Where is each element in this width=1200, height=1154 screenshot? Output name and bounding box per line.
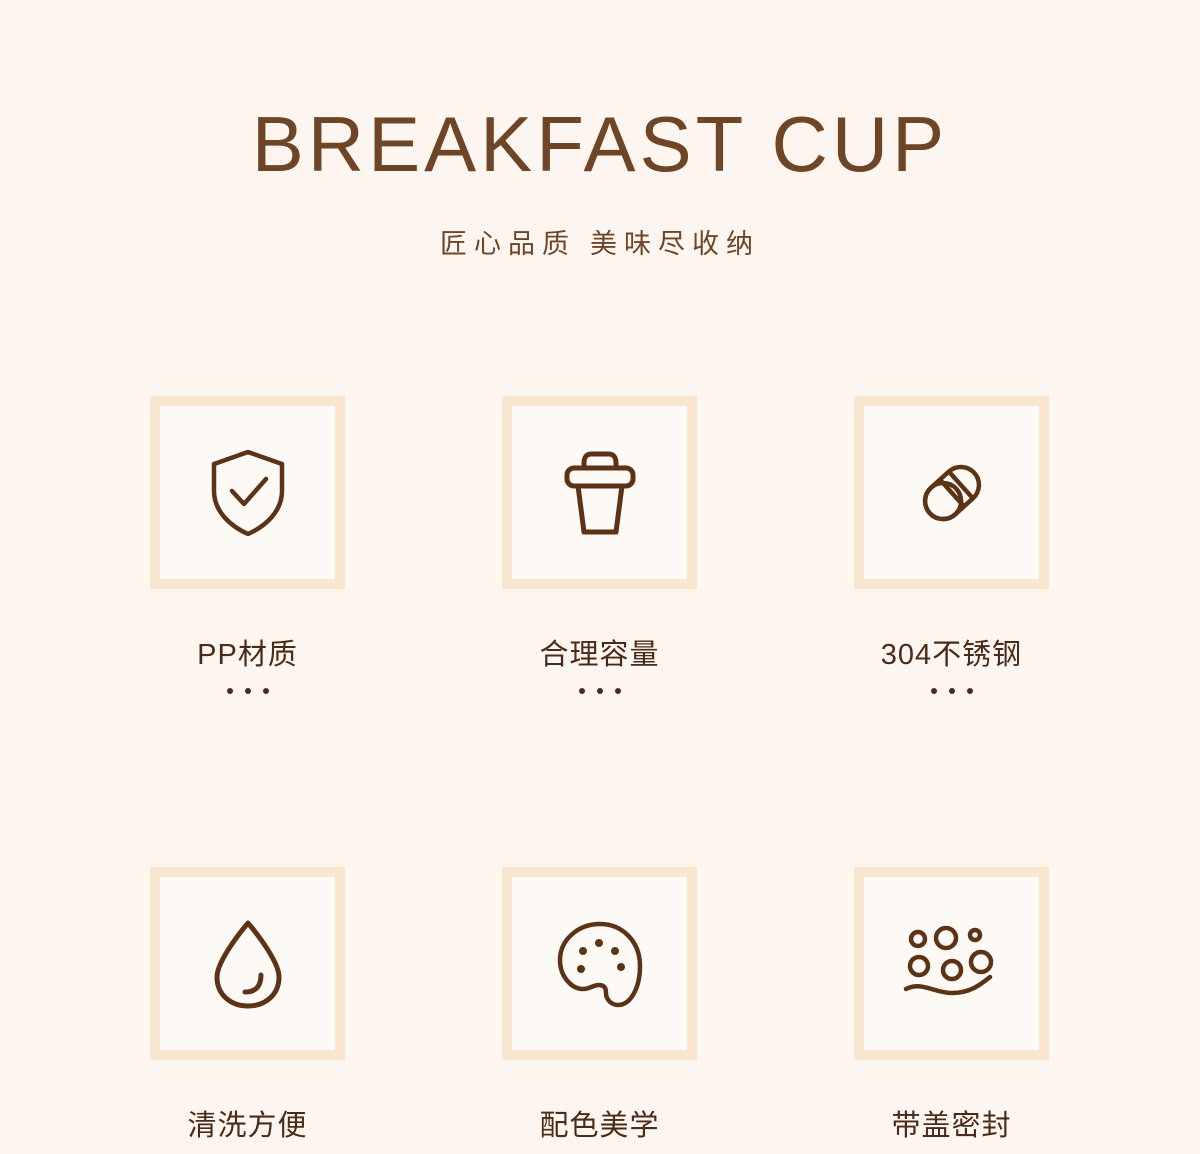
feature-label: 合理容量 — [502, 641, 697, 670]
sealed-bubbles-icon — [902, 925, 1002, 1003]
feature-dots — [502, 688, 697, 694]
feature-dots — [150, 688, 345, 694]
feature-card[interactable]: 304不锈钢 — [854, 396, 1049, 694]
steel-billet-icon — [906, 447, 998, 539]
feature-icon-box — [502, 867, 697, 1060]
feature-label: 配色美学 — [502, 1112, 697, 1141]
feature-card[interactable]: 合理容量 — [502, 396, 697, 694]
feature-grid: PP材质 合理容量 — [150, 396, 1050, 1154]
subtitle-right: 美味尽收纳 — [590, 229, 760, 259]
feature-label: 带盖密封 — [854, 1112, 1049, 1141]
page-header: BREAKFAST CUP 匠心品质美味尽收纳 — [0, 0, 1200, 261]
feature-dots — [854, 688, 1049, 694]
feature-card[interactable]: PP材质 — [150, 396, 345, 694]
subtitle-left: 匠心品质 — [440, 229, 576, 259]
feature-label: PP材质 — [150, 641, 345, 670]
product-feature-page: BREAKFAST CUP 匠心品质美味尽收纳 PP材质 — [0, 0, 1200, 1154]
feature-label: 304不锈钢 — [854, 641, 1049, 670]
coffee-cup-icon — [560, 447, 640, 539]
feature-card[interactable]: 带盖密封 — [854, 867, 1049, 1154]
feature-icon-box — [854, 396, 1049, 589]
feature-card[interactable]: 清洗方便 — [150, 867, 345, 1154]
paint-palette-icon — [555, 919, 645, 1009]
water-drop-icon — [209, 917, 287, 1011]
shield-check-icon — [206, 447, 290, 539]
feature-label: 清洗方便 — [150, 1112, 345, 1141]
page-subtitle: 匠心品质美味尽收纳 — [0, 222, 1200, 261]
feature-icon-box — [854, 867, 1049, 1060]
page-title: BREAKFAST CUP — [0, 104, 1200, 186]
feature-icon-box — [502, 396, 697, 589]
feature-icon-box — [150, 396, 345, 589]
feature-icon-box — [150, 867, 345, 1060]
feature-card[interactable]: 配色美学 — [502, 867, 697, 1154]
